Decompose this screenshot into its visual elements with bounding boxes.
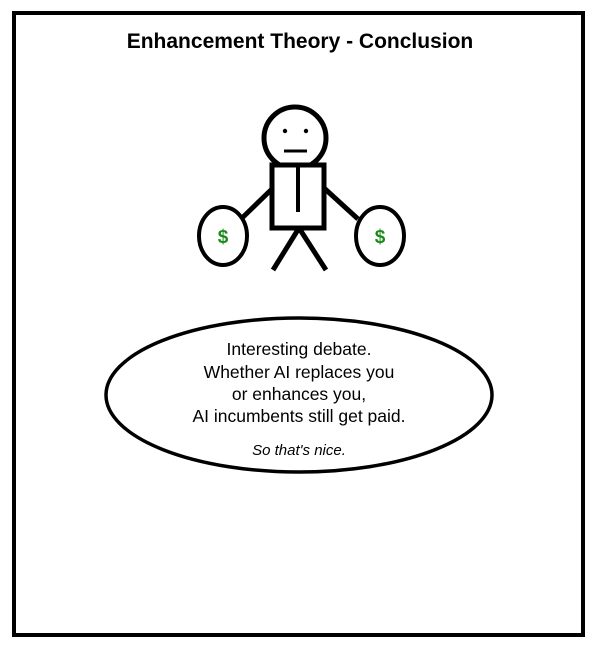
figure-arm-left	[241, 188, 273, 219]
figure-leg-right	[299, 228, 326, 270]
speech-bubble: Interesting debate. Whether AI replaces …	[106, 318, 492, 472]
speech-bubble-kicker: So that's nice.	[252, 442, 346, 459]
money-bag-left: $	[199, 207, 247, 265]
speech-bubble-line-2: Whether AI replaces you	[204, 362, 395, 382]
figure-leg-left	[273, 228, 299, 270]
figure-head	[264, 107, 326, 169]
dollar-sign-icon: $	[218, 227, 229, 248]
figure-eye-right	[304, 129, 308, 133]
speech-bubble-line-1: Interesting debate.	[227, 339, 372, 359]
figure-eye-left	[283, 129, 287, 133]
cartoon-artwork: $ $ Interesting debate. Whether AI repla…	[0, 0, 600, 657]
speech-bubble-line-4: AI incumbents still get paid.	[192, 406, 405, 426]
money-bag-right: $	[356, 207, 404, 265]
dollar-sign-icon: $	[375, 227, 386, 248]
figure-arm-right	[324, 188, 358, 219]
stick-figure	[241, 107, 358, 270]
speech-bubble-line-3: or enhances you,	[232, 384, 366, 404]
cartoon-panel: Enhancement Theory - Conclusion	[0, 0, 600, 657]
